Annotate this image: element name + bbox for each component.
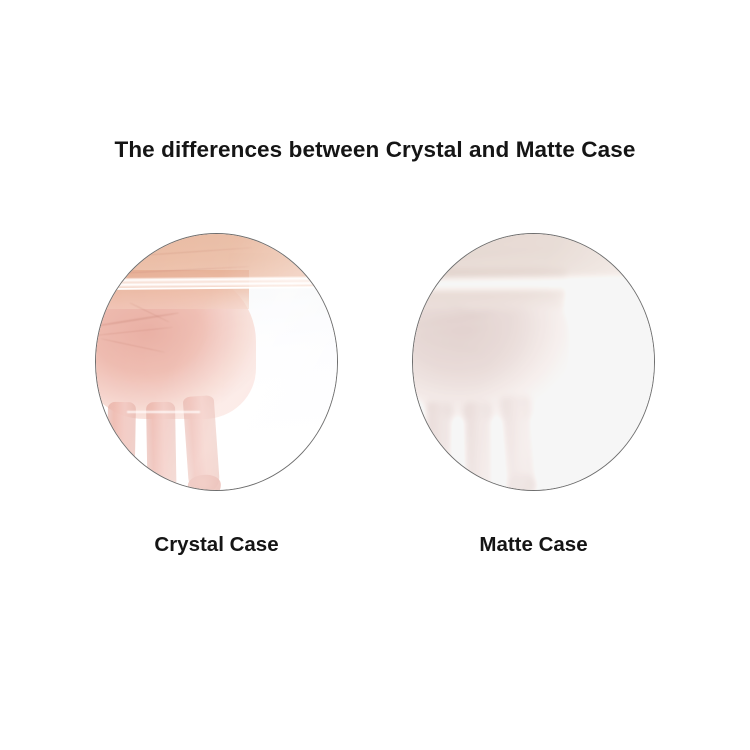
comparison-row: [0, 233, 750, 491]
palm-crease: [412, 312, 496, 328]
palm-crease: [95, 327, 172, 337]
palm-crease: [95, 312, 179, 328]
caption-crystal-case: Crystal Case: [95, 533, 338, 557]
sample-crystal[interactable]: [95, 233, 338, 491]
finger: [146, 402, 177, 491]
palm-crease: [412, 327, 489, 337]
page-title: The differences between Crystal and Matt…: [0, 137, 750, 163]
fingertip: [504, 474, 539, 491]
finger: [106, 402, 136, 491]
page-canvas: The differences between Crystal and Matt…: [0, 0, 750, 750]
fingertip: [187, 474, 222, 491]
matte-circle-frame: [412, 233, 655, 491]
finger: [463, 402, 494, 491]
palm-region: [95, 270, 256, 419]
finger: [423, 402, 453, 491]
case-reflection: [127, 411, 200, 413]
palm-crease: [417, 338, 482, 353]
palm-region: [412, 270, 573, 419]
crystal-photo: [95, 233, 338, 491]
crystal-circle-frame: [95, 233, 338, 491]
finger: [499, 395, 536, 491]
sample-matte[interactable]: [412, 233, 655, 491]
palm-crease: [100, 338, 165, 353]
matte-photo: [412, 233, 655, 491]
caption-matte-case: Matte Case: [412, 533, 655, 557]
